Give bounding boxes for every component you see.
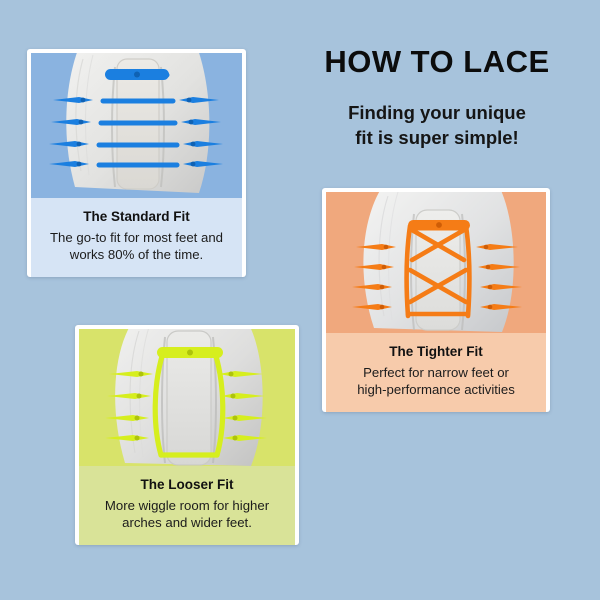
caption-tighter-fit: The Tighter Fit Perfect for narrow feet … — [326, 333, 546, 412]
caption-standard-fit: The Standard Fit The go-to fit for most … — [31, 198, 242, 277]
shoe-illustration-orange — [326, 192, 546, 333]
caption-looser-fit: The Looser Fit More wiggle room for high… — [79, 466, 295, 545]
card-body: More wiggle room for higher arches and w… — [87, 497, 287, 532]
lace-clip-top — [408, 220, 470, 231]
poster-canvas: HOW TO LACE Finding your unique fit is s… — [0, 0, 600, 600]
subtitle-line-1: Finding your unique — [348, 102, 526, 123]
card-body-line-1: The go-to fit for most feet and — [50, 230, 223, 245]
page-subtitle: Finding your unique fit is super simple! — [292, 101, 582, 150]
card-tighter-fit[interactable]: The Tighter Fit Perfect for narrow feet … — [322, 188, 550, 412]
shoe-illustration-blue — [31, 53, 242, 198]
card-body: The go-to fit for most feet and works 80… — [39, 229, 234, 264]
card-looser-fit[interactable]: The Looser Fit More wiggle room for high… — [75, 325, 299, 545]
shoe-illustration-green — [79, 329, 295, 466]
card-body: Perfect for narrow feet or high-performa… — [334, 364, 538, 399]
card-body-line-2: high-performance activities — [357, 382, 515, 397]
photo-standard-fit — [31, 53, 242, 198]
photo-tighter-fit — [326, 192, 546, 333]
lace-clip-top — [105, 69, 169, 80]
card-title: The Looser Fit — [87, 477, 287, 494]
card-body-line-2: works 80% of the time. — [70, 247, 203, 262]
card-standard-fit[interactable]: The Standard Fit The go-to fit for most … — [27, 49, 246, 277]
card-body-line-2: arches and wider feet. — [122, 515, 252, 530]
card-body-line-1: Perfect for narrow feet or — [363, 365, 509, 380]
card-body-line-1: More wiggle room for higher — [105, 498, 269, 513]
page-title: HOW TO LACE — [292, 45, 582, 79]
photo-looser-fit — [79, 329, 295, 466]
card-title: The Standard Fit — [39, 209, 234, 226]
heading-block: HOW TO LACE Finding your unique fit is s… — [292, 45, 582, 150]
lace-clip-top — [157, 347, 223, 358]
card-title: The Tighter Fit — [334, 344, 538, 361]
subtitle-line-2: fit is super simple! — [355, 127, 518, 148]
